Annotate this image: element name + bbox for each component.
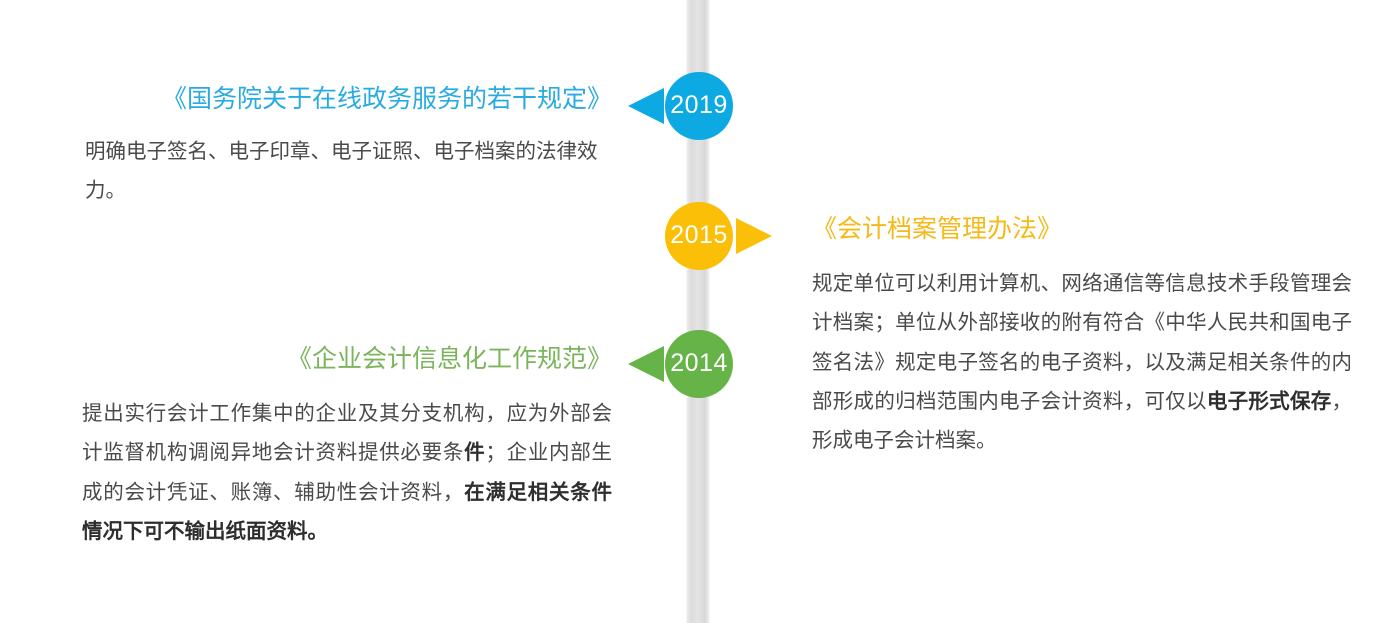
triangle-left-icon-2014 [628,346,664,382]
entry-body-2014: 提出实行会计工作集中的企业及其分支机构，应为外部会计监督机构调阅异地会计资料提供… [82,394,612,551]
entry-body-2014-emphasis: 件 [464,441,485,464]
timeline-entry-2014: 《企业会计信息化工作规范》 提出实行会计工作集中的企业及其分支机构，应为外部会计… [60,344,612,551]
year-marker-2014[interactable]: 2014 [665,330,733,398]
entry-body-2015: 规定单位可以利用计算机、网络通信等信息技术手段管理会计档案；单位从外部接收的附有… [812,264,1352,461]
year-label-2019: 2019 [670,93,728,118]
timeline-infographic: 2019 《国务院关于在线政务服务的若干规定》 明确电子签名、电子印章、电子证照… [0,0,1400,623]
triangle-left-icon-2019 [628,88,664,124]
entry-title-2015: 《会计档案管理办法》 [812,214,1352,244]
triangle-right-icon-2015 [736,218,772,254]
entry-title-2014: 《企业会计信息化工作规范》 [60,344,612,374]
year-label-2015: 2015 [670,223,728,248]
timeline-entry-2015: 《会计档案管理办法》 规定单位可以利用计算机、网络通信等信息技术手段管理会计档案… [812,214,1352,461]
year-label-2014: 2014 [670,351,728,376]
timeline-entry-2019: 《国务院关于在线政务服务的若干规定》 明确电子签名、电子印章、电子证照、电子档案… [60,84,612,211]
entry-title-2019: 《国务院关于在线政务服务的若干规定》 [60,84,612,114]
year-marker-2019[interactable]: 2019 [665,72,733,140]
year-marker-2015[interactable]: 2015 [665,202,733,270]
entry-body-2015-emphasis: 电子形式保存 [1207,390,1332,413]
entry-body-2019: 明确电子签名、电子印章、电子证照、电子档案的法律效力。 [85,132,605,211]
